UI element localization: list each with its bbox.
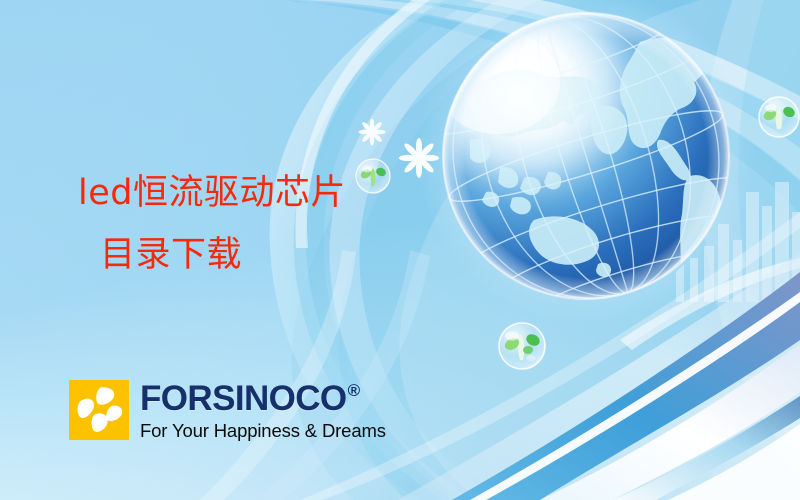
- promo-banner: led恒流驱动芯片 目录下载 FORSINOCO ®: [0, 0, 800, 500]
- white-flower-large: [399, 138, 439, 178]
- logo-wordmark: FORSINOCO ®: [140, 381, 386, 416]
- logo-text-block: FORSINOCO ® For Your Happiness & Dreams: [140, 381, 386, 441]
- four-petal-pinwheel-icon: [69, 380, 129, 440]
- globe-rim: [443, 13, 729, 299]
- white-flower-small: [359, 119, 386, 146]
- company-logo[interactable]: FORSINOCO ® For Your Happiness & Dreams: [69, 380, 386, 441]
- bubble-sprout-medium: [499, 323, 545, 369]
- bubble-sprout-edge: [759, 97, 799, 137]
- logo-mark: [69, 380, 129, 440]
- brand-tagline: For Your Happiness & Dreams: [140, 420, 386, 441]
- brand-name: FORSINOCO: [140, 381, 347, 416]
- registered-trademark-icon: ®: [348, 382, 361, 399]
- bubble-sprout-small: [356, 159, 390, 193]
